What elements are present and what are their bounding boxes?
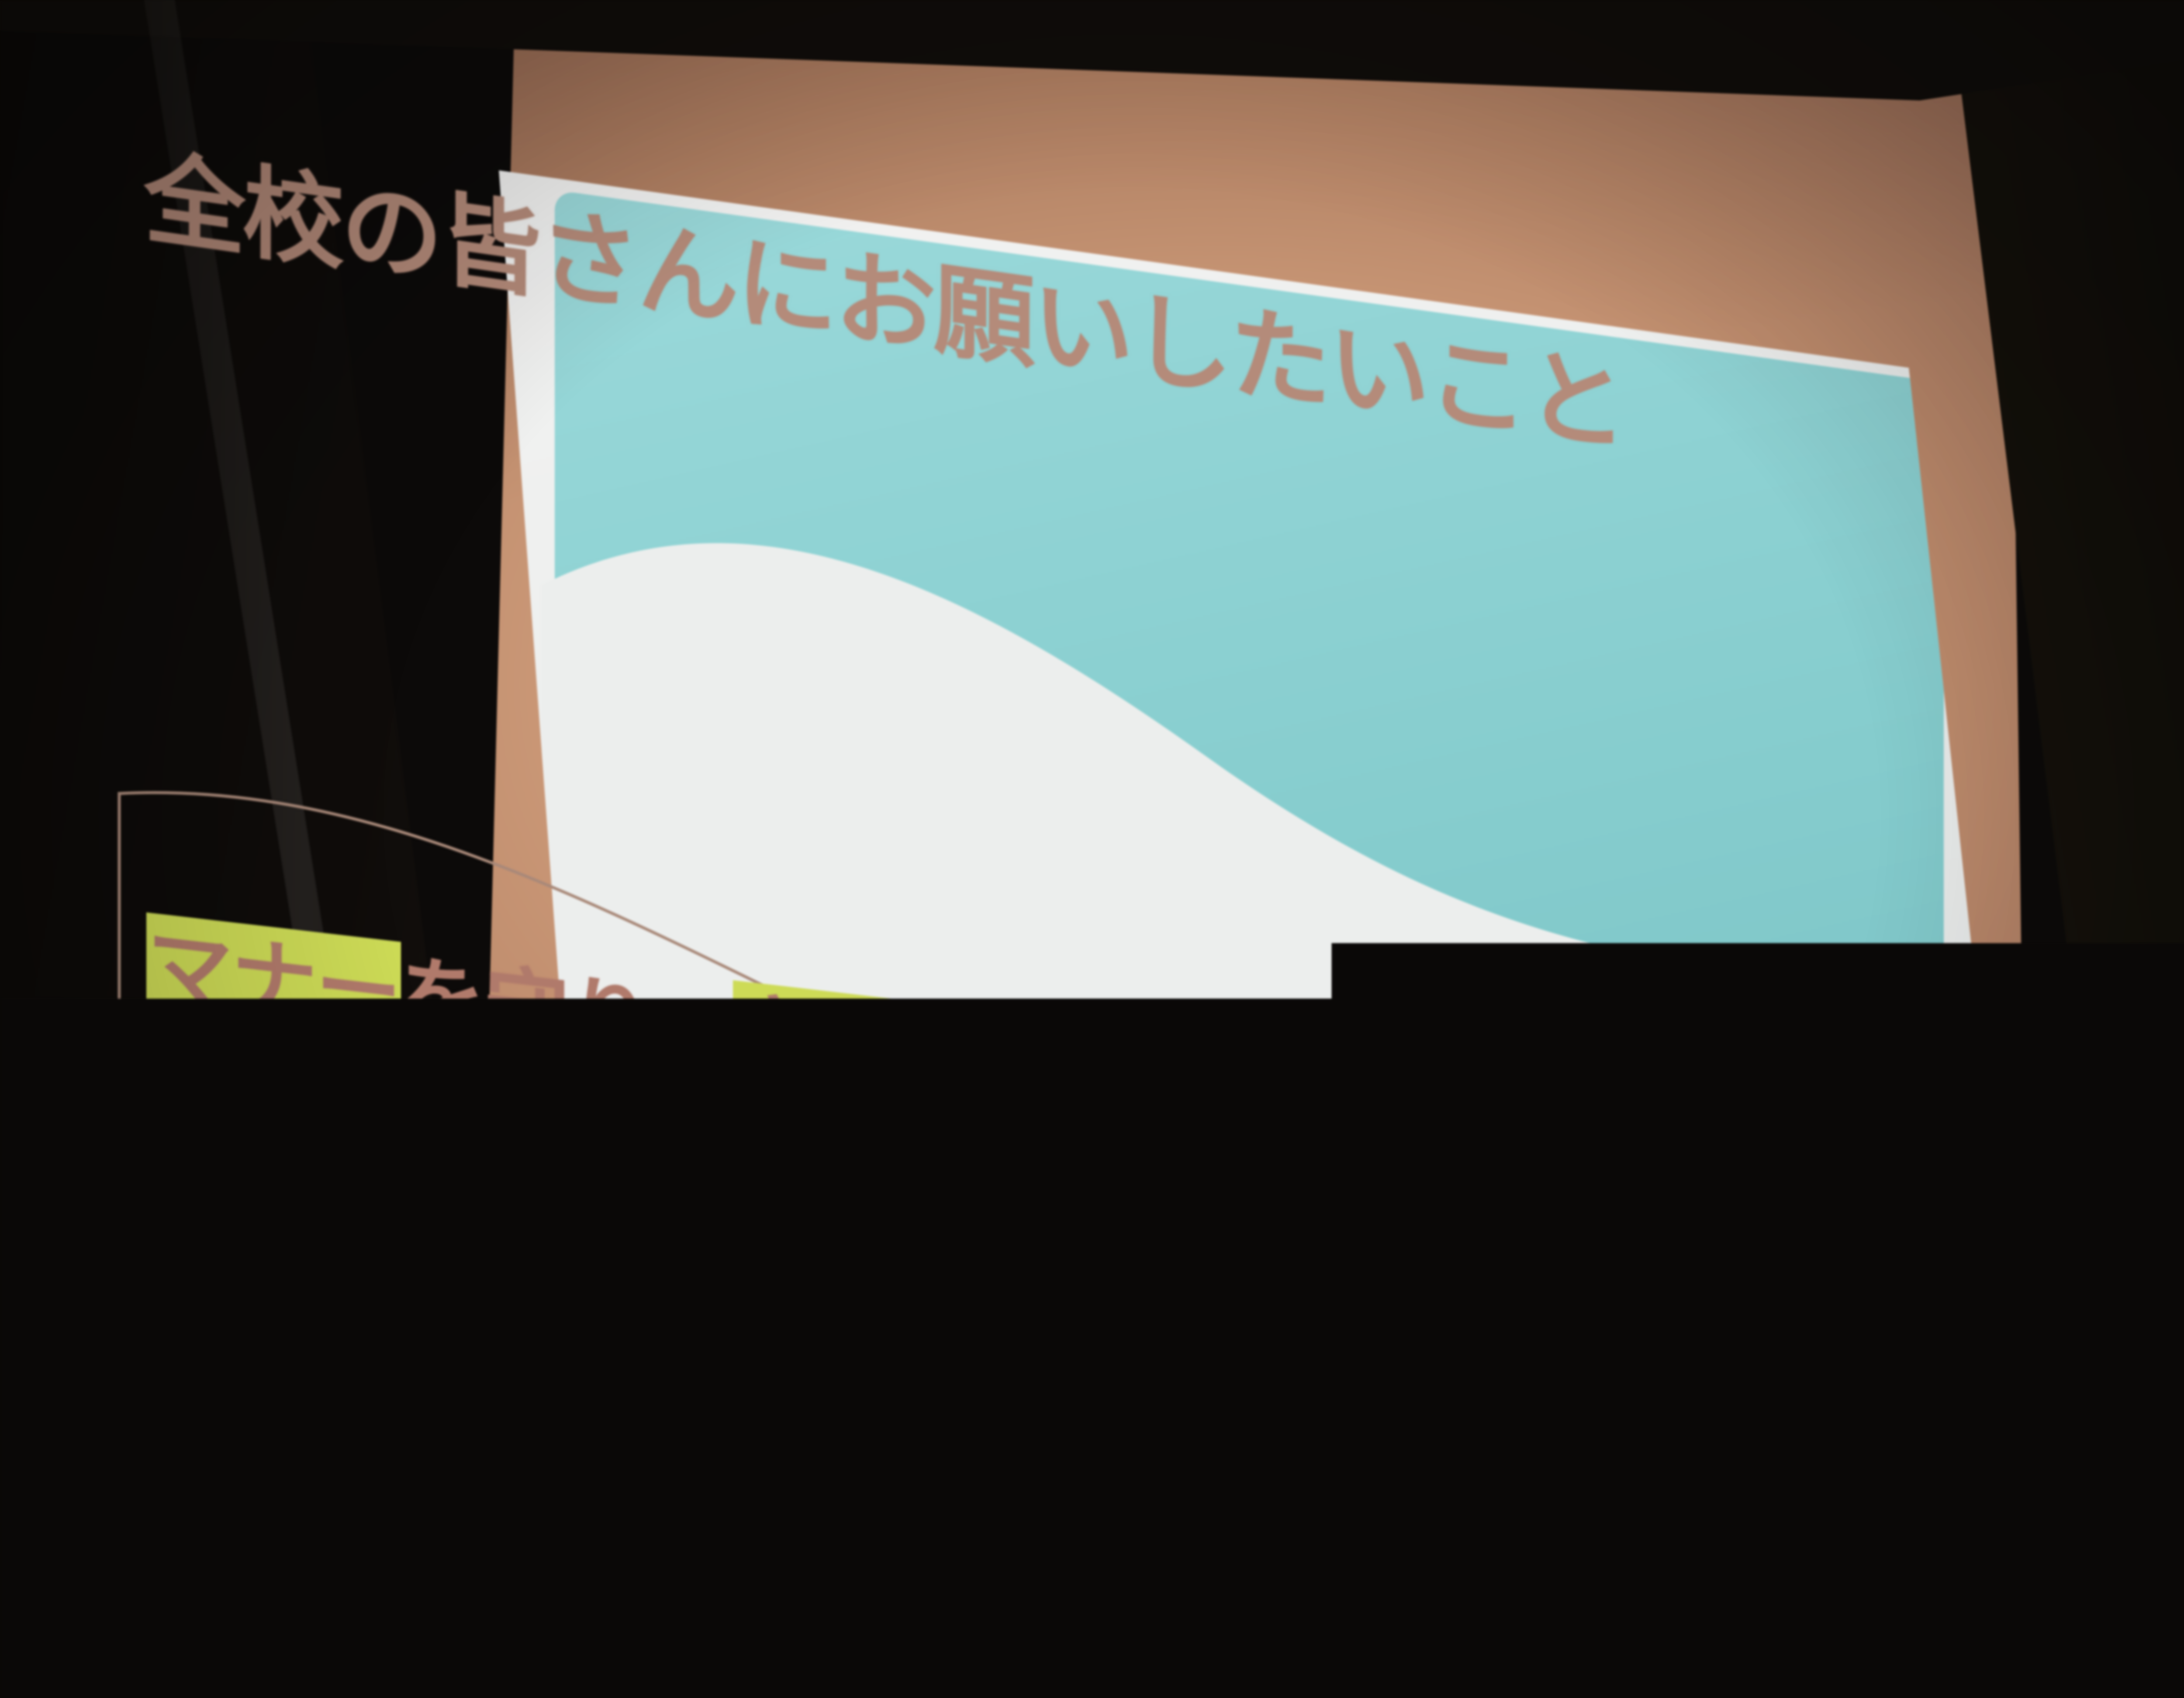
projected-slide: 全校の皆さんにお願いしたいこと マナーを守り、安全に登下校すること bbox=[0, 0, 2184, 1698]
body-segment-2: 安全 bbox=[734, 981, 902, 1108]
room-scene: 全校の皆さんにお願いしたいこと マナーを守り、安全に登下校すること bbox=[0, 0, 2184, 1698]
